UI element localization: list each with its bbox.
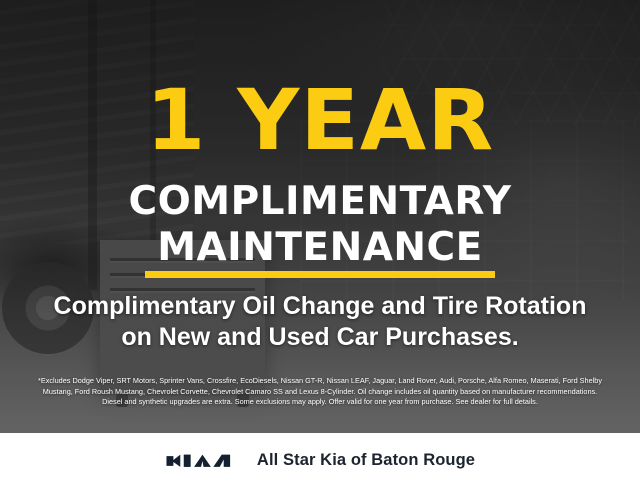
footer-bar: All Star Kia of Baton Rouge	[0, 433, 640, 488]
kia-logo	[165, 451, 239, 471]
headline-maintenance: MAINTENANCE	[0, 228, 640, 267]
headline-year: 1 YEAR	[0, 78, 640, 162]
disclaimer-line-3: Diesel and synthetic upgrades are extra.…	[14, 397, 626, 408]
yellow-divider-rule	[145, 271, 495, 278]
promotional-ad-banner[interactable]: 1 YEAR COMPLIMENTARY MAINTENANCE Complim…	[0, 0, 640, 488]
disclaimer-line-1: *Excludes Dodge Viper, SRT Motors, Sprin…	[14, 376, 626, 387]
tagline: Complimentary Oil Change and Tire Rotati…	[0, 291, 640, 353]
hero-photo-area: 1 YEAR COMPLIMENTARY MAINTENANCE Complim…	[0, 0, 640, 433]
tagline-line-1: Complimentary Oil Change and Tire Rotati…	[0, 291, 640, 322]
disclaimer-line-2: Mustang, Ford Roush Mustang, Chevrolet C…	[14, 387, 626, 398]
headline-complimentary: COMPLIMENTARY	[0, 182, 640, 221]
disclaimer-text: *Excludes Dodge Viper, SRT Motors, Sprin…	[14, 376, 626, 408]
dealer-name: All Star Kia of Baton Rouge	[257, 451, 475, 470]
ad-content: 1 YEAR COMPLIMENTARY MAINTENANCE Complim…	[0, 0, 640, 433]
tagline-line-2: on New and Used Car Purchases.	[0, 322, 640, 353]
